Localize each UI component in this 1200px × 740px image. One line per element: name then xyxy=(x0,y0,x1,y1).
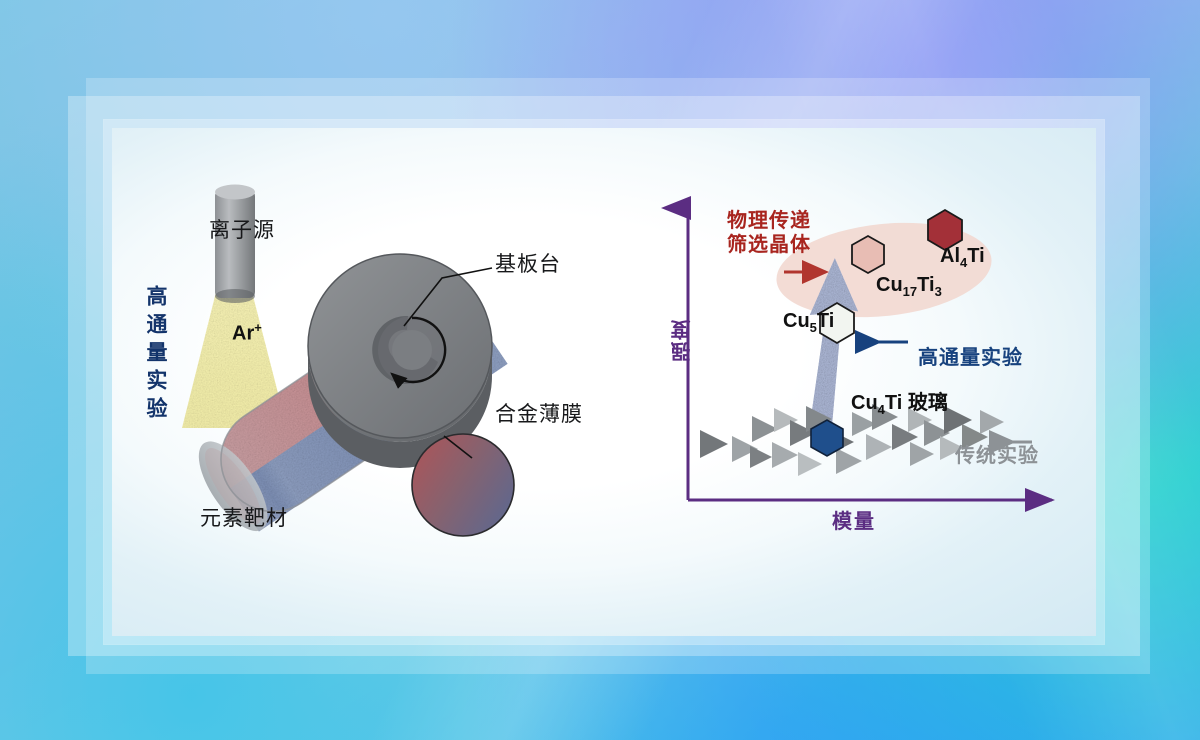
deposition-schematic xyxy=(112,128,632,636)
label-alloy-film: 合金薄膜 xyxy=(495,398,583,428)
annotation-physical-transfer-line1: 物理传递 xyxy=(727,210,811,234)
x-axis-label: 模量 xyxy=(832,505,876,534)
left-vertical-label-wrap: 高通量实验 xyxy=(140,285,170,425)
figure-canvas: 高通量实验 离子源 Ar+ 元素靶材 基板台 合金薄膜 xyxy=(0,0,1200,740)
point-label-cu17ti3: Cu17Ti3 xyxy=(876,274,942,299)
al4ti-mid: Ti xyxy=(967,245,984,267)
annotation-physical-transfer: 物理传递 筛选晶体 xyxy=(727,210,811,257)
cu17ti3-prefix: Cu xyxy=(876,274,903,296)
annotation-physical-transfer-line2: 筛选晶体 xyxy=(727,234,811,258)
cu4ti-prefix: Cu xyxy=(851,392,878,414)
point-label-al4ti: Al4Ti xyxy=(940,245,985,270)
cu17ti3-sub1: 17 xyxy=(903,284,917,299)
point-cu17ti3 xyxy=(852,236,884,273)
cu4ti-suffix: 玻璃 xyxy=(902,392,948,414)
annotation-traditional: 传统实验 xyxy=(955,439,1039,468)
cu17ti3-mid: Ti xyxy=(917,274,934,296)
point-al4ti xyxy=(928,210,962,250)
cu17ti3-sub2: 3 xyxy=(935,284,942,299)
point-label-cu4ti-glass: Cu4Ti 玻璃 xyxy=(851,386,948,417)
cu4ti-mid: Ti xyxy=(885,392,902,414)
label-ion-source: 离子源 xyxy=(209,214,275,244)
cu4ti-sub: 4 xyxy=(878,402,885,417)
y-axis-label: 强度 xyxy=(668,318,697,362)
ar-symbol: Ar xyxy=(232,323,254,345)
label-ion-species: Ar+ xyxy=(232,320,262,346)
cu5ti-mid: Ti xyxy=(817,310,834,332)
y-axis-label-wrap: 强度 xyxy=(668,318,697,362)
label-element-target: 元素靶材 xyxy=(200,502,288,532)
left-vertical-label: 高通量实验 xyxy=(140,285,170,425)
annotation-high-throughput: 高通量实验 xyxy=(918,341,1023,370)
cu5ti-sub: 5 xyxy=(810,320,817,335)
alloy-film-disk xyxy=(412,434,514,536)
al4ti-prefix: Al xyxy=(940,245,960,267)
point-label-cu5ti: Cu5Ti xyxy=(783,310,834,335)
label-substrate-stage: 基板台 xyxy=(495,248,561,278)
cu5ti-prefix: Cu xyxy=(783,310,810,332)
point-cu4ti-glass xyxy=(811,420,843,456)
ar-charge: + xyxy=(254,320,262,335)
